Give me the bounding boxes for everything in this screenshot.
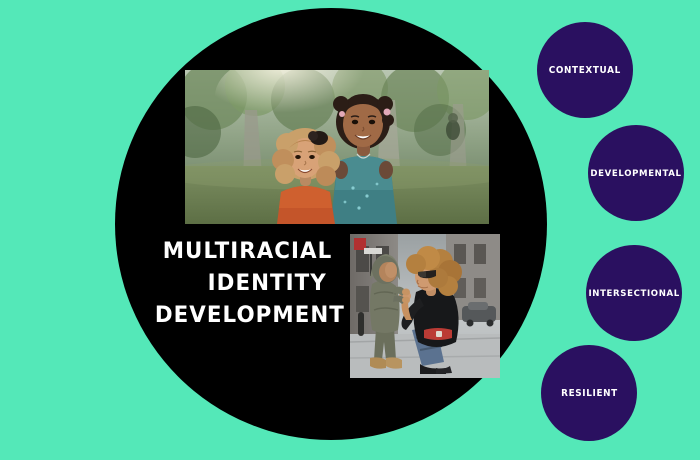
photo-two-children-outdoors	[185, 70, 489, 224]
adult-and-toddler-street-illustration	[350, 234, 500, 378]
slide-canvas: MULTIRACIAL IDENTITY DEVELOPMENT CONTEXT…	[0, 0, 700, 460]
badge-contextual[interactable]: CONTEXTUAL	[537, 22, 633, 118]
photo-adult-and-toddler-street	[350, 234, 500, 378]
two-children-outdoors-illustration	[185, 70, 489, 224]
badge-developmental-label: DEVELOPMENTAL	[590, 168, 681, 179]
page-title: MULTIRACIAL IDENTITY DEVELOPMENT	[155, 236, 340, 332]
badge-resilient[interactable]: RESILIENT	[541, 345, 637, 441]
badge-intersectional[interactable]: INTERSECTIONAL	[586, 245, 682, 341]
badge-intersectional-label: INTERSECTIONAL	[588, 288, 679, 299]
title-line-3: DEVELOPMENT	[155, 300, 340, 332]
title-line-2: IDENTITY	[155, 268, 340, 300]
badge-contextual-label: CONTEXTUAL	[549, 65, 621, 76]
title-line-1: MULTIRACIAL	[155, 236, 340, 268]
badge-resilient-label: RESILIENT	[561, 388, 618, 399]
badge-developmental[interactable]: DEVELOPMENTAL	[588, 125, 684, 221]
